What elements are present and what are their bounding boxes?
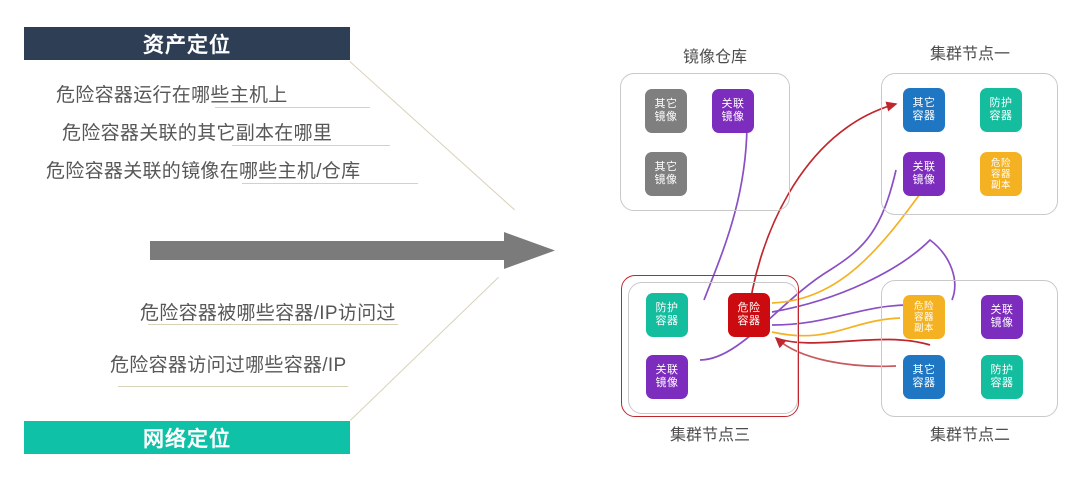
- node-related-image-node-two[interactable]: 关联 镜像: [981, 295, 1023, 339]
- node-danger-replica-node-two[interactable]: 危险 容器 副本: [903, 295, 945, 339]
- node-label-line: 镜像: [722, 111, 745, 124]
- node-other-image-registry-2[interactable]: 其它 镜像: [645, 152, 687, 196]
- node-label-line: 关联: [722, 98, 745, 111]
- network-question-2: 危险容器访问过哪些容器/IP: [110, 350, 346, 377]
- node-label-line: 容器: [991, 377, 1014, 390]
- node-label-line: 危险: [914, 301, 934, 312]
- node-label-line: 容器: [913, 377, 936, 390]
- node-label-line: 其它: [655, 161, 678, 174]
- node-danger-replica-node-one[interactable]: 危险 容器 副本: [980, 152, 1022, 196]
- node-other-container-node-one[interactable]: 其它 容器: [903, 88, 945, 132]
- node-related-image-node-one[interactable]: 关联 镜像: [903, 152, 945, 196]
- node-label-line: 容器: [914, 312, 934, 323]
- node-label-line: 危险: [991, 158, 1011, 169]
- node-label-line: 镜像: [913, 174, 936, 187]
- node-label-line: 容器: [656, 315, 679, 328]
- node-label-line: 关联: [656, 364, 679, 377]
- network-question-1-underline: [148, 324, 398, 325]
- asset-question-3-underline: [242, 183, 418, 184]
- node-label-line: 关联: [913, 161, 936, 174]
- asset-question-3: 危险容器关联的镜像在哪些主机/仓库: [46, 156, 360, 183]
- node-label-line: 容器: [991, 169, 1011, 180]
- node-protected-container-node-three[interactable]: 防护 容器: [646, 293, 688, 337]
- node-label-line: 其它: [913, 364, 936, 377]
- cluster-title-node-one: 集群节点一: [880, 40, 1060, 64]
- cluster-title-registry: 镜像仓库: [630, 43, 800, 67]
- asset-locate-banner: 资产定位: [24, 27, 350, 60]
- flow-arrow: [150, 232, 555, 269]
- left-questions-panel: 资产定位 危险容器运行在哪些主机上 危险容器关联的其它副本在哪里 危险容器关联的…: [0, 0, 600, 484]
- node-label-line: 容器: [990, 110, 1013, 123]
- node-label-line: 镜像: [991, 317, 1014, 330]
- network-locate-banner-label: 网络定位: [143, 423, 231, 453]
- asset-question-2-underline: [232, 145, 390, 146]
- node-related-image-registry[interactable]: 关联 镜像: [712, 89, 754, 133]
- node-label-line: 危险: [738, 302, 761, 315]
- node-related-image-node-three[interactable]: 关联 镜像: [646, 355, 688, 399]
- cluster-topology-diagram: 镜像仓库 其它 镜像 关联 镜像 其它 镜像 集群节点一 其它 容器 防护 容器…: [600, 0, 1080, 484]
- asset-locate-banner-label: 资产定位: [143, 29, 231, 59]
- node-label-line: 副本: [914, 323, 934, 334]
- asset-question-2: 危险容器关联的其它副本在哪里: [62, 118, 332, 145]
- node-label-line: 防护: [991, 364, 1014, 377]
- node-label-line: 容器: [738, 315, 761, 328]
- cluster-title-node-two: 集群节点二: [885, 421, 1055, 445]
- node-label-line: 防护: [656, 302, 679, 315]
- network-locate-banner: 网络定位: [24, 421, 350, 454]
- cluster-title-node-three: 集群节点三: [625, 421, 795, 445]
- node-protected-container-node-one[interactable]: 防护 容器: [980, 88, 1022, 132]
- node-label-line: 镜像: [656, 377, 679, 390]
- network-question-2-underline: [118, 386, 348, 387]
- node-other-image-registry-1[interactable]: 其它 镜像: [645, 89, 687, 133]
- node-label-line: 其它: [913, 97, 936, 110]
- node-label-line: 其它: [655, 98, 678, 111]
- node-label-line: 副本: [991, 180, 1011, 191]
- asset-question-1: 危险容器运行在哪些主机上: [56, 80, 288, 107]
- node-label-line: 关联: [991, 304, 1014, 317]
- asset-leader-line: [349, 61, 515, 210]
- node-other-container-node-two[interactable]: 其它 容器: [903, 355, 945, 399]
- node-danger-container[interactable]: 危险 容器: [728, 293, 770, 337]
- node-label-line: 镜像: [655, 174, 678, 187]
- node-protected-container-node-two[interactable]: 防护 容器: [981, 355, 1023, 399]
- asset-question-1-underline: [215, 107, 370, 108]
- node-label-line: 容器: [913, 110, 936, 123]
- network-question-1: 危险容器被哪些容器/IP访问过: [140, 298, 396, 325]
- node-label-line: 镜像: [655, 111, 678, 124]
- node-label-line: 防护: [990, 97, 1013, 110]
